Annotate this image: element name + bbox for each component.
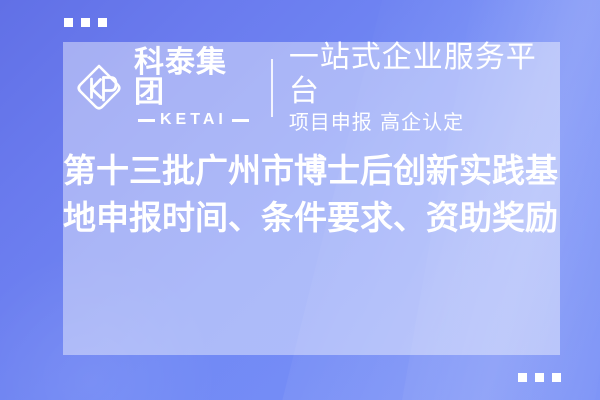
brand-lockup: 科泰集团 KETAI [73,48,253,128]
brand-name-cn: 科泰集团 [134,48,253,108]
headline-line-2: 地申报时间、条件要求、资助奖励 [63,195,563,242]
dash-right-icon [232,119,249,122]
ketai-logo-icon [73,62,125,114]
slogan-block: 一站式企业服务平台 项目申报 高企认定 [289,41,560,135]
square-dot [535,373,544,382]
dash-left-icon [138,119,155,122]
brand-name-en: KETAI [160,112,227,128]
slogan-sub: 项目申报 高企认定 [289,110,560,135]
decorative-dots-top [64,18,107,27]
slogan-main: 一站式企业服务平台 [289,41,560,108]
square-dot [552,373,561,382]
square-dot [81,18,90,27]
square-dot [518,373,527,382]
brand-header: 科泰集团 KETAI 一站式企业服务平台 项目申报 高企认定 [63,42,560,134]
promo-banner: 科泰集团 KETAI 一站式企业服务平台 项目申报 高企认定 第十三批广州市博士… [0,0,600,400]
brand-name-en-row: KETAI [138,112,249,128]
square-dot [64,18,73,27]
headline-line-1: 第十三批广州市博士后创新实践基 [63,148,563,195]
brand-wordmark: 科泰集团 KETAI [134,48,253,128]
headline: 第十三批广州市博士后创新实践基 地申报时间、条件要求、资助奖励 [63,148,563,242]
square-dot [98,18,107,27]
decorative-dots-bottom [518,373,561,382]
vertical-divider [271,59,273,117]
